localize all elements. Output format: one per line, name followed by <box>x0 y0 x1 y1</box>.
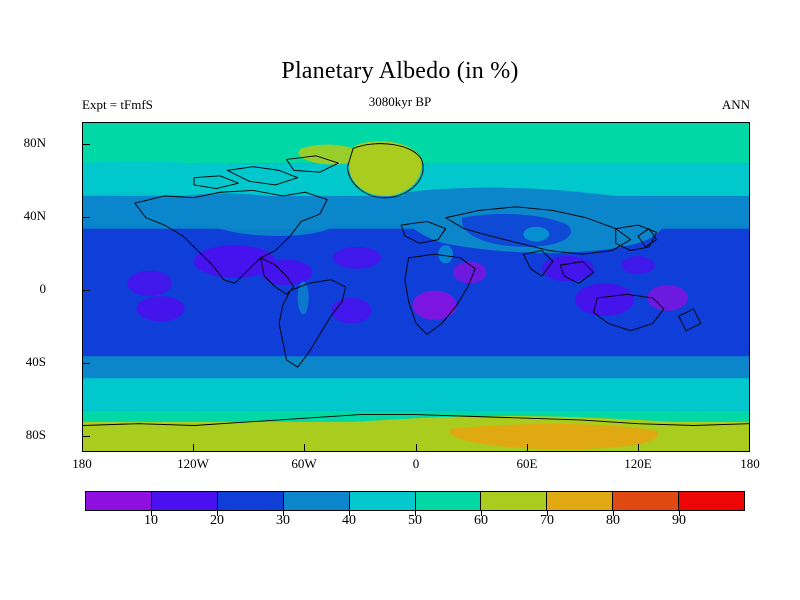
colorbar-tick-label: 10 <box>126 513 176 529</box>
colorbar-tick-label: 30 <box>258 513 308 529</box>
colorbar-tick-label: 50 <box>390 513 440 529</box>
xtick-label-0: 0 <box>386 456 446 472</box>
xtick-label-60w: 60W <box>274 456 334 472</box>
colorbar-tick-label: 90 <box>654 513 704 529</box>
xtick-mark <box>193 444 194 452</box>
albedo-map-figure: Planetary Albedo (in %) 3080kyr BP Expt … <box>0 0 800 600</box>
colorbar-tick-label: 70 <box>522 513 572 529</box>
colorbar-tick-label: 80 <box>588 513 638 529</box>
experiment-label: Expt = tFmfS <box>82 97 153 113</box>
colorbar-tick-label: 60 <box>456 513 506 529</box>
ytick-label-40n: 40N <box>0 208 46 224</box>
colorbar-segment-5 <box>416 492 482 510</box>
colorbar-tick-label: 40 <box>324 513 374 529</box>
xtick-label-180w: 180 <box>52 456 112 472</box>
ytick-mark <box>82 217 90 218</box>
colorbar-segment-6 <box>481 492 547 510</box>
ytick-mark <box>82 144 90 145</box>
page-title: Planetary Albedo (in %) <box>0 58 800 85</box>
xtick-label-120e: 120E <box>608 456 668 472</box>
map-canvas <box>83 123 749 451</box>
colorbar-segment-3 <box>284 492 350 510</box>
map-plot-area <box>82 122 750 452</box>
colorbar-tick-label: 20 <box>192 513 242 529</box>
ytick-mark <box>82 363 90 364</box>
xtick-mark <box>416 444 417 452</box>
colorbar-segment-9 <box>679 492 744 510</box>
ytick-mark <box>82 436 90 437</box>
ytick-mark <box>82 290 90 291</box>
colorbar-segment-4 <box>350 492 416 510</box>
albedo-field <box>83 123 749 451</box>
xtick-label-60e: 60E <box>497 456 557 472</box>
xtick-label-180e: 180 <box>720 456 780 472</box>
xtick-mark <box>638 444 639 452</box>
ytick-label-80s: 80S <box>0 427 46 443</box>
xtick-label-120w: 120W <box>163 456 223 472</box>
ytick-label-80n: 80N <box>0 135 46 151</box>
colorbar-segment-8 <box>613 492 679 510</box>
xtick-mark <box>304 444 305 452</box>
colorbar-segment-0 <box>86 492 152 510</box>
ytick-label-40s: 40S <box>0 354 46 370</box>
colorbar <box>85 491 745 511</box>
xtick-mark <box>527 444 528 452</box>
ytick-label-0: 0 <box>0 281 46 297</box>
colorbar-segment-1 <box>152 492 218 510</box>
colorbar-segment-2 <box>218 492 284 510</box>
season-label: ANN <box>722 97 750 113</box>
colorbar-segment-7 <box>547 492 613 510</box>
